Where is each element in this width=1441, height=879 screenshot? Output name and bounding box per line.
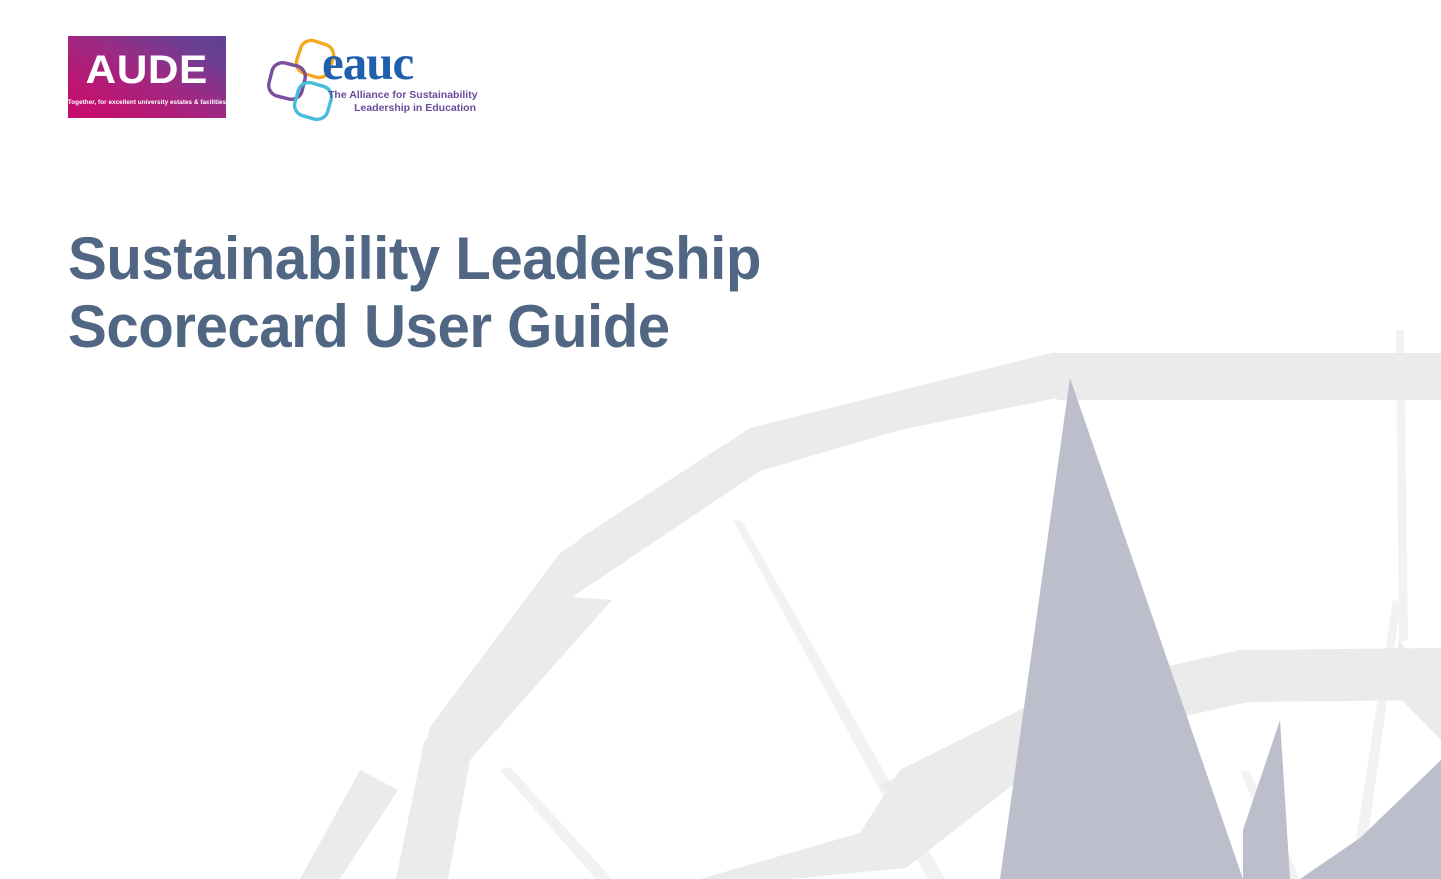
artwork-bands-secondary [396,428,1068,879]
artwork-hairlines [500,330,1408,879]
artwork-triangle-secondary [1300,760,1441,879]
artwork-triangle-tertiary [1243,720,1290,879]
eauc-strapline-line-1: The Alliance for Sustainability [328,89,478,101]
eauc-wordmark: eauc [322,36,478,90]
eauc-text-lockup: eauc The Alliance for Sustainability Lea… [322,36,478,115]
eauc-logo: eauc The Alliance for Sustainability Lea… [266,36,476,122]
page-title-line-1: Sustainability Leadership [68,225,761,293]
page-title-line-2: Scorecard User Guide [68,293,761,361]
aude-wordmark: AUDE [86,50,208,90]
eauc-strapline: The Alliance for Sustainability Leadersh… [328,89,478,115]
cover-page: AUDE Together, for excellent university … [0,0,1441,879]
rounded-square-purple-icon [266,60,307,101]
aude-tagline: Together, for excellent university estat… [68,99,226,107]
artwork-bands [300,352,1441,879]
artwork-triangle-primary [1000,378,1243,879]
logo-row: AUDE Together, for excellent university … [68,36,476,122]
aude-logo: AUDE Together, for excellent university … [68,36,226,118]
eauc-strapline-line-2: Leadership in Education [328,102,478,115]
page-title: Sustainability Leadership Scorecard User… [68,225,782,361]
background-artwork [0,0,1441,879]
